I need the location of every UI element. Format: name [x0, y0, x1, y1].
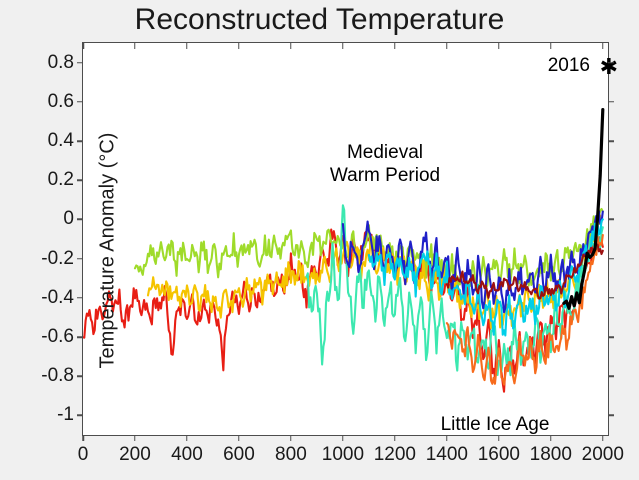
x-tick-label: 800 — [275, 444, 307, 466]
y-tick-label: 0 — [63, 208, 74, 230]
y-tick-mark — [77, 297, 83, 299]
chart-title: Reconstructed Temperature — [0, 2, 639, 38]
x-tick-mark — [446, 435, 448, 441]
y-tick-label: 0.2 — [48, 169, 74, 191]
x-tick-label: 200 — [119, 444, 151, 466]
x-tick-mark-top — [342, 43, 344, 49]
y-tick-label: -0.2 — [41, 248, 74, 270]
x-tick-label: 400 — [171, 444, 203, 466]
y-tick-label: -0.6 — [41, 326, 74, 348]
x-tick-label: 1200 — [374, 444, 416, 466]
x-tick-label: 1600 — [478, 444, 520, 466]
x-tick-mark — [238, 435, 240, 441]
y-tick-mark — [77, 336, 83, 338]
annotation-2016-label: 2016 — [548, 55, 590, 77]
y-tick-mark — [77, 219, 83, 221]
y-tick-mark-right — [608, 219, 614, 221]
chart-figure: Reconstructed Temperature Temperature An… — [0, 0, 639, 480]
y-tick-mark — [77, 140, 83, 142]
x-tick-label: 2000 — [582, 444, 624, 466]
y-tick-label: -0.8 — [41, 365, 74, 387]
x-tick-mark-top — [238, 43, 240, 49]
x-tick-mark-top — [290, 43, 292, 49]
y-tick-mark-right — [608, 62, 614, 64]
x-tick-mark — [394, 435, 396, 441]
y-tick-label: -0.4 — [41, 287, 74, 309]
y-tick-mark — [77, 62, 83, 64]
x-tick-mark-top — [446, 43, 448, 49]
x-tick-mark — [602, 435, 604, 441]
x-tick-mark — [186, 435, 188, 441]
y-tick-mark-right — [608, 297, 614, 299]
y-tick-mark-right — [608, 179, 614, 181]
y-tick-mark-right — [608, 140, 614, 142]
x-tick-mark — [82, 435, 84, 441]
x-tick-mark-top — [134, 43, 136, 49]
y-tick-mark-right — [608, 415, 614, 417]
x-tick-mark-top — [186, 43, 188, 49]
x-tick-mark-top — [602, 43, 604, 49]
y-tick-mark — [77, 101, 83, 103]
y-tick-label: 0.8 — [48, 52, 74, 74]
x-tick-label: 0 — [78, 444, 89, 466]
y-tick-label: 0.6 — [48, 91, 74, 113]
annotation-little-ice-age: Little Ice Age — [405, 413, 585, 436]
x-tick-label: 1000 — [322, 444, 364, 466]
y-tick-mark-right — [608, 101, 614, 103]
x-tick-mark-top — [394, 43, 396, 49]
x-tick-label: 600 — [223, 444, 255, 466]
y-tick-label: -1 — [57, 404, 74, 426]
x-tick-mark — [498, 435, 500, 441]
y-tick-mark-right — [608, 375, 614, 377]
x-tick-mark-top — [498, 43, 500, 49]
y-tick-mark — [77, 179, 83, 181]
y-tick-label: 0.4 — [48, 130, 74, 152]
x-tick-mark-top — [550, 43, 552, 49]
x-tick-mark — [290, 435, 292, 441]
plot-svg — [83, 43, 608, 435]
y-tick-mark — [77, 258, 83, 260]
asterisk-marker-icon: ✱ — [600, 57, 618, 77]
plot-area: Temperature Anomaly (°C) Medieval Warm P… — [82, 42, 609, 436]
x-tick-label: 1800 — [530, 444, 572, 466]
x-tick-mark — [342, 435, 344, 441]
y-axis-label: Temperature Anomaly (°C) — [97, 51, 120, 451]
x-tick-mark — [134, 435, 136, 441]
y-tick-mark — [77, 415, 83, 417]
x-tick-mark — [550, 435, 552, 441]
x-tick-mark-top — [82, 43, 84, 49]
annotation-medieval-warm-period: Medieval Warm Period — [295, 141, 475, 187]
y-tick-mark-right — [608, 258, 614, 260]
y-tick-mark-right — [608, 336, 614, 338]
y-tick-mark — [77, 375, 83, 377]
x-tick-label: 1400 — [426, 444, 468, 466]
